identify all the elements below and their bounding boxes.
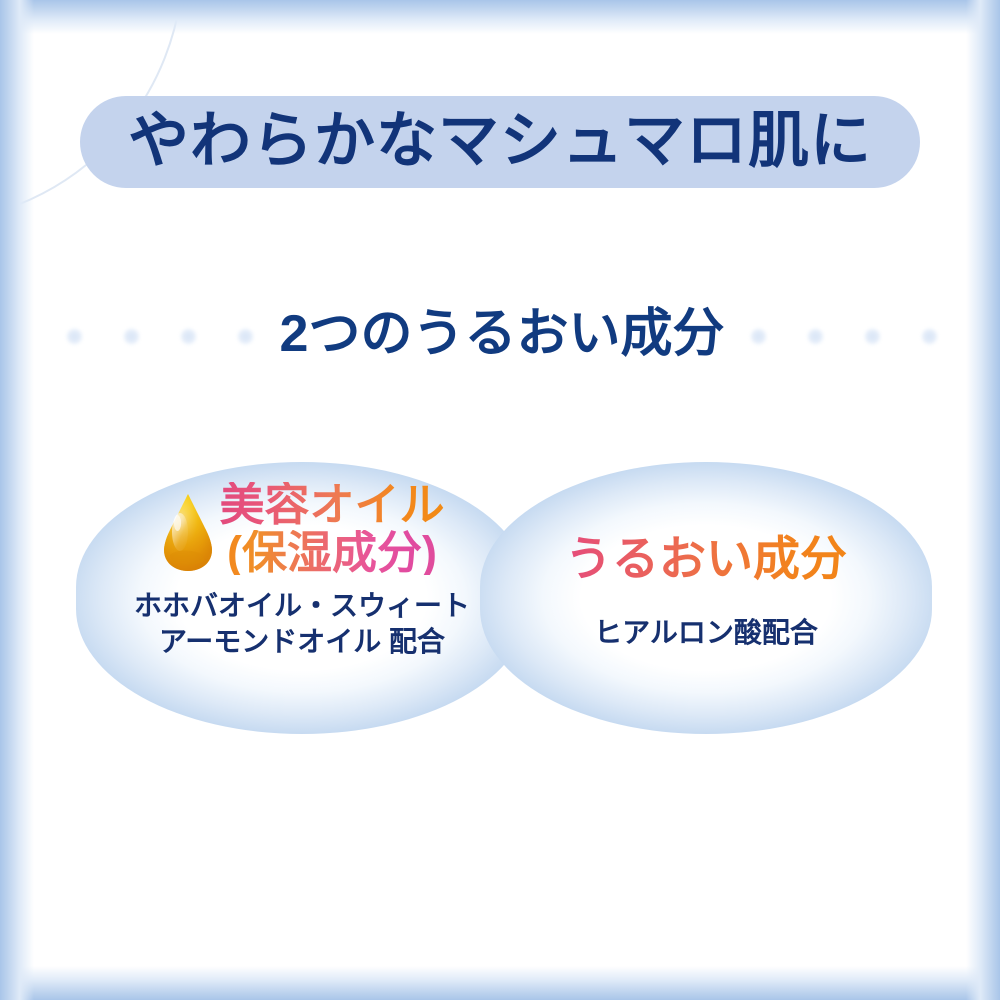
oil-drop-icon — [159, 492, 217, 572]
detail-line: アーモンドオイル 配合 — [96, 624, 508, 660]
bubble-content-moisture-ingredient: うるおい成分 ヒアルロン酸配合 — [500, 520, 912, 651]
decorative-dots-left — [62, 328, 254, 345]
beauty-oil-title-row: 美容オイル (保湿成分) — [96, 482, 508, 575]
bubble-title-moisture-ingredient: うるおい成分 — [500, 520, 912, 589]
product-infographic: やわらかなマシュマロ肌に 2つのうるおい成分 — [0, 0, 1000, 1000]
detail-line: ヒアルロン酸配合 — [500, 615, 912, 651]
bubble-content-beauty-oil: 美容オイル (保湿成分) ホホバオイル・スウィート アーモンドオイル 配合 — [96, 482, 508, 661]
bubble-detail-beauty-oil: ホホバオイル・スウィート アーモンドオイル 配合 — [96, 588, 508, 661]
beauty-oil-titles: 美容オイル (保湿成分) — [219, 482, 444, 575]
soft-dot-icon — [180, 328, 197, 345]
soft-dot-icon — [921, 328, 938, 345]
soft-dot-icon — [66, 328, 83, 345]
soft-dot-icon — [237, 328, 254, 345]
section-heading-row: 2つのうるおい成分 — [0, 296, 1000, 376]
headline-pill: やわらかなマシュマロ肌に — [80, 96, 920, 188]
bubble-title-beauty-oil: 美容オイル — [219, 482, 444, 527]
soft-dot-icon — [807, 328, 824, 345]
bubble-subtitle-beauty-oil: (保湿成分) — [227, 530, 437, 575]
decorative-dots-right — [750, 328, 938, 345]
detail-line: ホホバオイル・スウィート — [96, 588, 508, 624]
bubble-detail-moisture-ingredient: ヒアルロン酸配合 — [500, 615, 912, 651]
page-title: やわらかなマシュマロ肌に — [128, 110, 872, 175]
soft-dot-icon — [864, 328, 881, 345]
section-heading: 2つのうるおい成分 — [280, 308, 725, 364]
soft-dot-icon — [123, 328, 140, 345]
soft-dot-icon — [750, 328, 767, 345]
